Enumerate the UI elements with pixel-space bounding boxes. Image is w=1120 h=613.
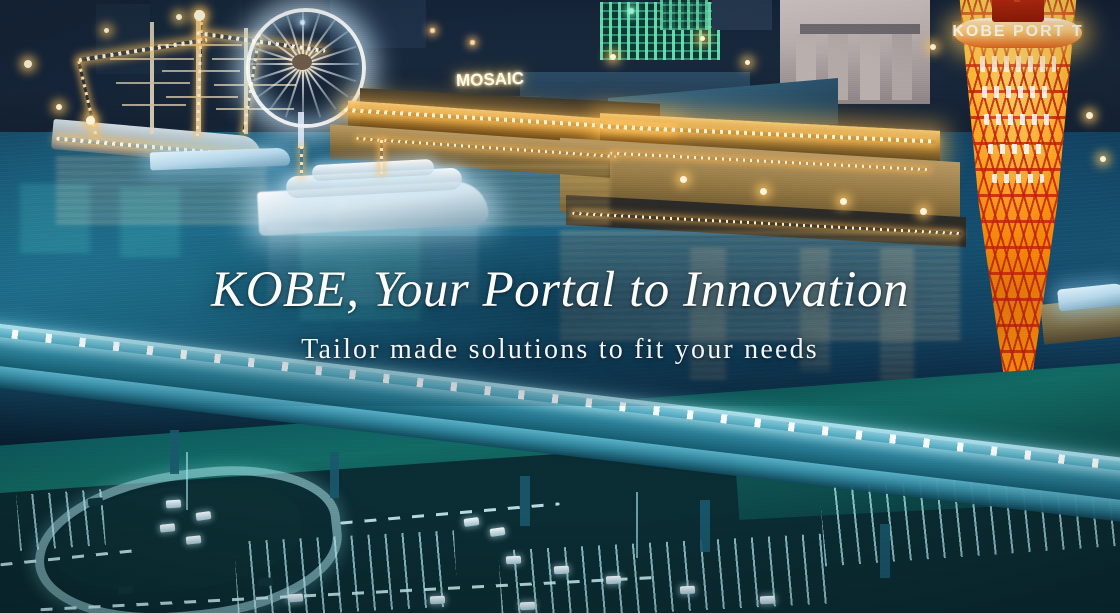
photo-grain-overlay xyxy=(0,0,1120,613)
hero-banner: MOSAIC xyxy=(0,0,1120,613)
